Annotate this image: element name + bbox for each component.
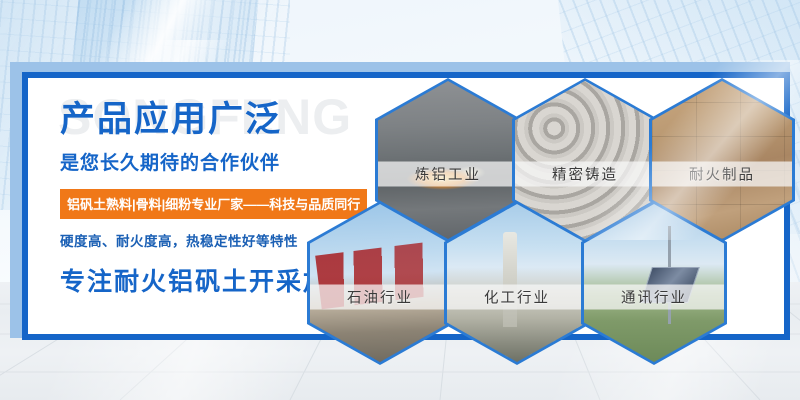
hex-label-band: 石油行业	[310, 285, 450, 310]
hex-border: 通讯行业	[581, 201, 727, 365]
hex-label-band: 化工行业	[447, 285, 587, 310]
hex-image-clip: 化工行业	[447, 204, 587, 362]
hex-tile-telecom-industry[interactable]: 通讯行业	[581, 201, 727, 365]
hex-label: 石油行业	[347, 287, 413, 308]
hex-tile-chemical-industry[interactable]: 化工行业	[444, 201, 590, 365]
hex-label: 精密铸造	[552, 164, 618, 185]
hex-label-band: 耐火制品	[652, 162, 792, 187]
hex-photo	[310, 204, 450, 362]
hexagon-cluster: 炼铝工业精密铸造耐火制品石油行业化工行业通讯行业	[0, 0, 800, 400]
hex-photo	[447, 204, 587, 362]
hex-image-clip: 石油行业	[310, 204, 450, 362]
hex-label-band: 精密铸造	[515, 162, 655, 187]
hex-border: 化工行业	[444, 201, 590, 365]
hex-label: 通讯行业	[621, 287, 687, 308]
hex-tile-petroleum-industry[interactable]: 石油行业	[307, 201, 453, 365]
hex-label-band: 炼铝工业	[378, 162, 518, 187]
hex-photo	[584, 204, 724, 362]
hex-border: 石油行业	[307, 201, 453, 365]
hex-image-clip: 通讯行业	[584, 204, 724, 362]
hex-label: 化工行业	[484, 287, 550, 308]
banner-stage: SONGFENG 产品应用广泛 是您长久期待的合作伙伴 铝矾土熟料|骨料|细粉专…	[0, 0, 800, 400]
hex-label-band: 通讯行业	[584, 285, 724, 310]
hex-label: 炼铝工业	[415, 164, 481, 185]
hex-label: 耐火制品	[689, 164, 755, 185]
